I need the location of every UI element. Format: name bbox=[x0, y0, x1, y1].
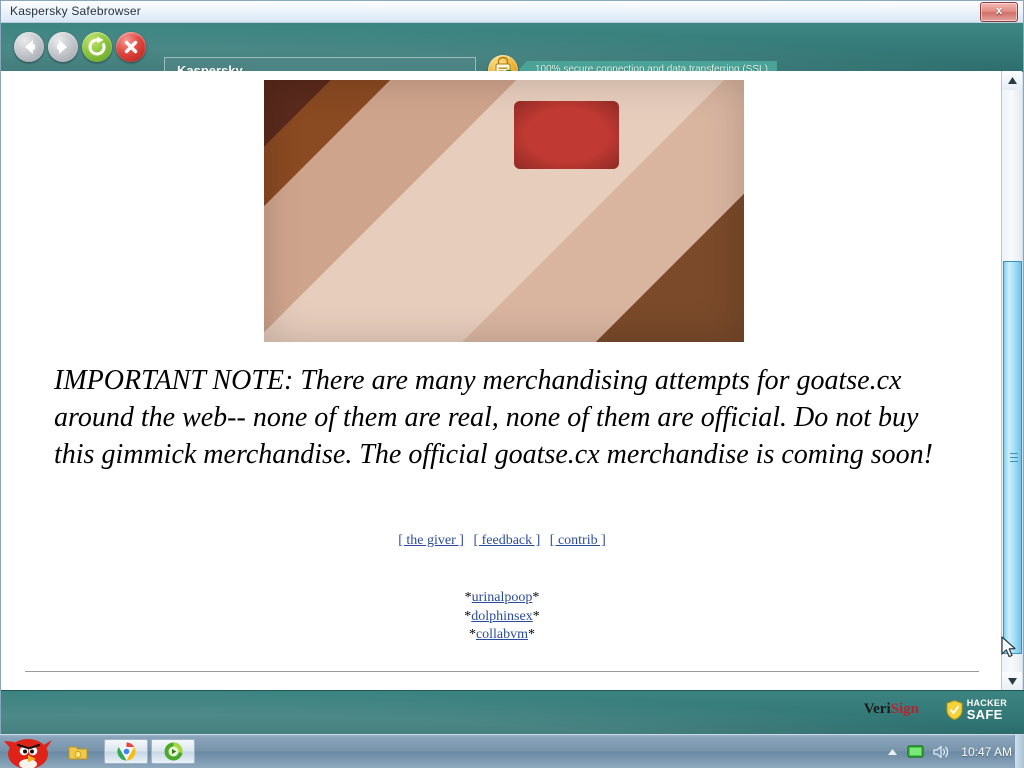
window-title: Kaspersky Safebrowser bbox=[10, 4, 141, 18]
taskbar-item-chrome[interactable] bbox=[104, 739, 148, 764]
list-item: *urinalpoop* bbox=[1, 589, 1003, 608]
folder-icon bbox=[68, 744, 88, 761]
hacker-safe-badge: HACKER SAFE bbox=[946, 699, 1007, 721]
browser-toolbar: Kaspersky 100% secure connection and dat… bbox=[1, 23, 1023, 72]
scroll-down-button[interactable] bbox=[1002, 672, 1022, 691]
reload-button[interactable] bbox=[82, 32, 112, 62]
vertical-scrollbar[interactable] bbox=[1001, 71, 1022, 691]
window-footer-bar: VeriSign HACKER SAFE bbox=[1, 690, 1024, 734]
tray-volume-icon[interactable] bbox=[933, 745, 950, 759]
tray-network-icon[interactable] bbox=[907, 745, 924, 759]
link-the-giver[interactable]: [ the giver ] bbox=[398, 533, 464, 548]
primary-link-row: [ the giver ] [ feedback ] [ contrib ] bbox=[1, 533, 1003, 549]
network-monitor-icon bbox=[907, 745, 924, 759]
horizontal-rule bbox=[25, 671, 979, 672]
tray-overflow-button[interactable] bbox=[887, 748, 898, 756]
chrome-icon bbox=[117, 742, 136, 761]
verisign-label-primary: Veri bbox=[864, 701, 891, 717]
important-note-text: IMPORTANT NOTE: There are many merchandi… bbox=[54, 363, 950, 474]
window-titlebar: Kaspersky Safebrowser x bbox=[1, 1, 1023, 23]
scroll-thumb[interactable] bbox=[1003, 261, 1022, 654]
system-tray: 10:47 AM bbox=[887, 735, 1020, 768]
asterisk-suffix: * bbox=[533, 609, 540, 624]
scroll-thumb-grip bbox=[1010, 453, 1018, 463]
reload-icon bbox=[82, 32, 112, 62]
shield-icon bbox=[946, 700, 963, 720]
taskbar: 10:47 AM bbox=[0, 734, 1024, 768]
link-feedback[interactable]: [ feedback ] bbox=[473, 533, 540, 548]
show-desktop-button[interactable] bbox=[1014, 735, 1024, 768]
asterisk-prefix: * bbox=[465, 590, 472, 605]
clock[interactable]: 10:47 AM bbox=[961, 745, 1012, 759]
page-hero-image bbox=[264, 80, 744, 342]
asterisk-prefix: * bbox=[469, 627, 476, 642]
list-item: *collabvm* bbox=[1, 626, 1003, 645]
page-viewport: IMPORTANT NOTE: There are many merchandi… bbox=[1, 71, 1003, 691]
arrow-left-icon bbox=[14, 32, 44, 62]
hacker-safe-line2: SAFE bbox=[967, 708, 1007, 721]
asterisk-suffix: * bbox=[528, 627, 535, 642]
list-item: *dolphinsex* bbox=[1, 608, 1003, 627]
quicklaunch-folder-button[interactable] bbox=[64, 740, 92, 764]
stop-button[interactable] bbox=[116, 32, 146, 62]
stop-icon bbox=[116, 32, 146, 62]
verisign-badge: VeriSign bbox=[864, 701, 919, 718]
link-urinalpoop[interactable]: urinalpoop bbox=[472, 590, 533, 605]
media-player-icon bbox=[164, 742, 183, 761]
forward-button[interactable] bbox=[48, 32, 78, 62]
scroll-up-button[interactable] bbox=[1002, 71, 1022, 90]
triangle-down-icon bbox=[1008, 678, 1017, 685]
volume-icon bbox=[933, 745, 950, 759]
angry-bird-start-icon bbox=[2, 730, 56, 768]
chevron-up-icon bbox=[887, 748, 898, 756]
secondary-link-list: *urinalpoop* *dolphinsex* *collabvm* bbox=[1, 589, 1003, 645]
arrow-right-icon bbox=[48, 32, 78, 62]
link-collabvm[interactable]: collabvm bbox=[476, 627, 528, 642]
browser-window: Kaspersky Safebrowser x Kaspe bbox=[0, 0, 1024, 735]
link-dolphinsex[interactable]: dolphinsex bbox=[471, 609, 532, 624]
triangle-up-icon bbox=[1008, 77, 1017, 84]
taskbar-item-media-player[interactable] bbox=[151, 739, 195, 764]
start-button[interactable] bbox=[2, 730, 56, 768]
close-button[interactable]: x bbox=[980, 2, 1018, 22]
verisign-label-secondary: Sign bbox=[891, 701, 919, 717]
asterisk-suffix: * bbox=[532, 590, 539, 605]
link-contrib[interactable]: [ contrib ] bbox=[550, 533, 606, 548]
back-button[interactable] bbox=[14, 32, 44, 62]
hacker-safe-text: HACKER SAFE bbox=[967, 699, 1007, 721]
